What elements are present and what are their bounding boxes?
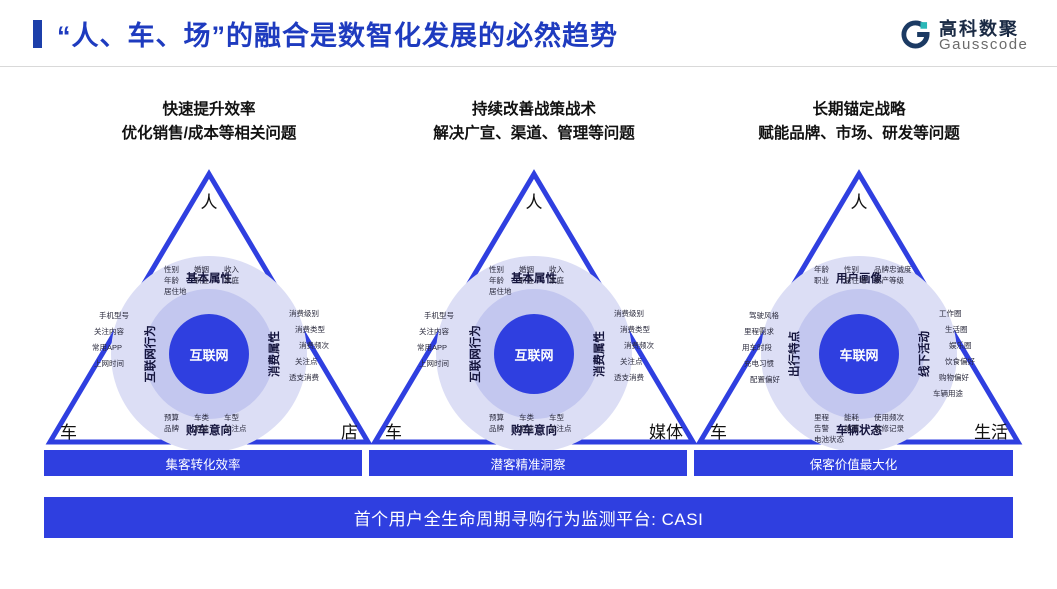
sat-item: 居住地 [489,286,519,297]
sat-item: 娱乐圈 [949,338,975,354]
satellite-bottom-3: 里程能耗使用频次 告警故障维修记录 电池状态 [814,412,904,445]
triangle-corner-left-2: 车 [385,418,402,443]
satellite-top-2: 性别婚姻收入 年龄职业家庭 居住地 [489,264,579,297]
sat-item: 消费级别 [614,306,654,322]
sat-item: 年龄 [164,275,194,286]
column-heading-3-line1: 长期锚定战略 [812,101,905,118]
ring-core-1: 互联网 [169,314,249,394]
sat-item: 能耗 [844,412,874,423]
sat-item: 消费类型 [295,322,329,338]
sat-item: 职业 [519,275,549,286]
sat-item: 品牌 [489,423,519,434]
ring-label-left-3: 出行特点 [786,331,802,377]
satellite-right-2: 消费级别 消费类型 消费频次 关注点 透支消费 [620,306,654,386]
logo-text-en: Gausscode [939,36,1028,53]
result-bar-1: 集客转化效率 [44,450,362,476]
sat-item: 关注点 [224,423,254,434]
sat-item: 性别 [844,264,874,275]
column-heading-2-line1: 持续改善战策战术 [472,101,596,118]
sat-item: 里程需求 [742,324,774,340]
satellite-left-2: 手机型号 关注内容 常用APP 上网时间 [417,308,448,372]
column-heading-3-line2: 赋能品牌、市场、研发等问题 [694,122,1024,146]
sat-item: 生活圈 [945,322,975,338]
satellite-left-1: 手机型号 关注内容 常用APP 上网时间 [92,308,123,372]
triangle-panel-3: 与现象思辨 用户画像 车辆状态 出行特点 线下活动 车联网 年龄性别品牌忠诚度 … [694,160,1024,448]
sat-item: 关注内容 [92,324,124,340]
sat-item: 家庭 [224,275,254,286]
sat-item: 消费频次 [624,338,654,354]
sat-item: 关注点 [549,423,579,434]
sat-item: 居住地 [844,275,874,286]
sat-item: 婚姻 [194,264,224,275]
triangle-corner-right-2: 媒体 [649,418,683,443]
triangle-corner-left-1: 车 [60,418,77,443]
column-heading-2-line2: 解决广宣、渠道、管理等问题 [369,122,699,146]
triangle-corner-left-3: 车 [710,418,727,443]
sat-item: 婚姻 [519,264,549,275]
sat-item: 年龄 [489,275,519,286]
sat-item: 消费级别 [289,306,329,322]
sat-item: 透支消费 [614,370,654,386]
sat-item: 电池状态 [814,434,844,445]
sat-item: 常用APP [92,340,122,356]
sat-item: 品牌 [164,423,194,434]
sat-item: 透支消费 [289,370,329,386]
sat-item: 车类 [194,412,224,423]
column-heading-1-line2: 优化销售/成本等相关问题 [44,122,374,146]
sat-item: 收入 [549,264,579,275]
sat-item: 车辆用途 [933,386,975,402]
brand-logo: 高科数聚 Gausscode [899,12,1039,58]
column-heading-1-line1: 快速提升效率 [162,101,255,118]
sat-item: 预算 [164,412,194,423]
satellite-bottom-1: 预算车类车型 品牌用途关注点 [164,412,254,434]
satellite-top-3: 年龄性别品牌忠诚度 职业居住地资产等级 [814,264,904,286]
result-bar-2: 潜客精准洞察 [369,450,687,476]
gausscode-g-logo-icon [899,18,932,51]
satellite-bottom-2: 预算车类车型 品牌用途关注点 [489,412,579,434]
sat-item: 用途 [519,423,549,434]
sat-item: 收入 [224,264,254,275]
sat-item: 配置偏好 [742,372,780,388]
sat-item: 车型 [224,412,254,423]
sat-item: 职业 [814,275,844,286]
column-heading-2: 持续改善战策战术 解决广宣、渠道、管理等问题 [369,98,699,146]
ring-label-right-2: 消费属性 [591,331,607,377]
sat-item: 手机型号 [92,308,129,324]
satellite-right-3: 工作圈 生活圈 娱乐圈 饮食偏好 购物偏好 车辆用途 [945,306,975,402]
sat-item: 饮食偏好 [945,354,975,370]
sat-item: 上网时间 [417,356,449,372]
column-heading-3: 长期锚定战略 赋能品牌、市场、研发等问题 [694,98,1024,146]
ring-core-3: 车联网 [819,314,899,394]
sat-item: 上网时间 [92,356,124,372]
sat-item: 职业 [194,275,224,286]
sat-item: 消费类型 [620,322,654,338]
result-bar-3: 保客价值最大化 [694,450,1013,476]
sat-item: 家庭 [549,275,579,286]
page-title: “人、车、场”的融合是数智化发展的必然趋势 [57,14,618,53]
sat-item: 车类 [519,412,549,423]
satellite-left-3: 驾驶风格 里程需求 用车时段 充电习惯 配置偏好 [742,308,773,388]
sat-item: 车型 [549,412,579,423]
ring-label-left-1: 互联网行为 [142,325,158,383]
ring-label-left-2: 互联网行为 [467,325,483,383]
sat-item: 品牌忠诚度 [874,264,904,275]
sat-item: 常用APP [417,340,447,356]
sat-item: 告警 [814,423,844,434]
sat-item: 年龄 [814,264,844,275]
header-divider [0,66,1057,67]
satellite-right-1: 消费级别 消费类型 消费频次 关注点 透支消费 [295,306,329,386]
sat-item: 使用频次 [874,412,904,423]
sat-item: 里程 [814,412,844,423]
sat-item: 关注点 [620,354,654,370]
sat-item: 购物偏好 [939,370,975,386]
sat-item: 用途 [194,423,224,434]
sat-item: 资产等级 [874,275,904,286]
sat-item: 用车时段 [742,340,772,356]
sat-item: 关注内容 [417,324,449,340]
sat-item: 故障 [844,423,874,434]
column-heading-1: 快速提升效率 优化销售/成本等相关问题 [44,98,374,146]
sat-item: 性别 [164,264,194,275]
ring-core-2: 互联网 [494,314,574,394]
sat-item: 维修记录 [874,423,904,434]
platform-footer-bar: 首个用户全生命周期寻购行为监测平台: CASI [44,497,1013,538]
sat-item: 手机型号 [417,308,454,324]
sat-item: 充电习惯 [742,356,774,372]
triangle-panel-1: 与现象思辨 基本属性 购车意向 互联网行为 消费属性 互联网 性别婚姻收入 年龄… [44,160,374,448]
triangle-corner-right-1: 店 [341,418,358,443]
triangle-panel-2: 与现象思辨 基本属性 购车意向 互联网行为 消费属性 互联网 性别婚姻收入 年龄… [369,160,699,448]
sat-item: 预算 [489,412,519,423]
sat-item: 性别 [489,264,519,275]
sat-item: 驾驶风格 [742,308,779,324]
satellite-top-1: 性别婚姻收入 年龄职业家庭 居住地 [164,264,254,297]
title-bullet-icon [33,20,42,48]
sat-item: 居住地 [164,286,194,297]
sat-item: 工作圈 [939,306,975,322]
ring-label-right-3: 线下活动 [916,331,932,377]
sat-item: 消费频次 [299,338,329,354]
sat-item: 关注点 [295,354,329,370]
ring-label-right-1: 消费属性 [266,331,282,377]
slide-header: “人、车、场”的融合是数智化发展的必然趋势 高科数聚 Gausscode [0,0,1057,67]
triangle-corner-right-3: 生活 [974,418,1008,443]
